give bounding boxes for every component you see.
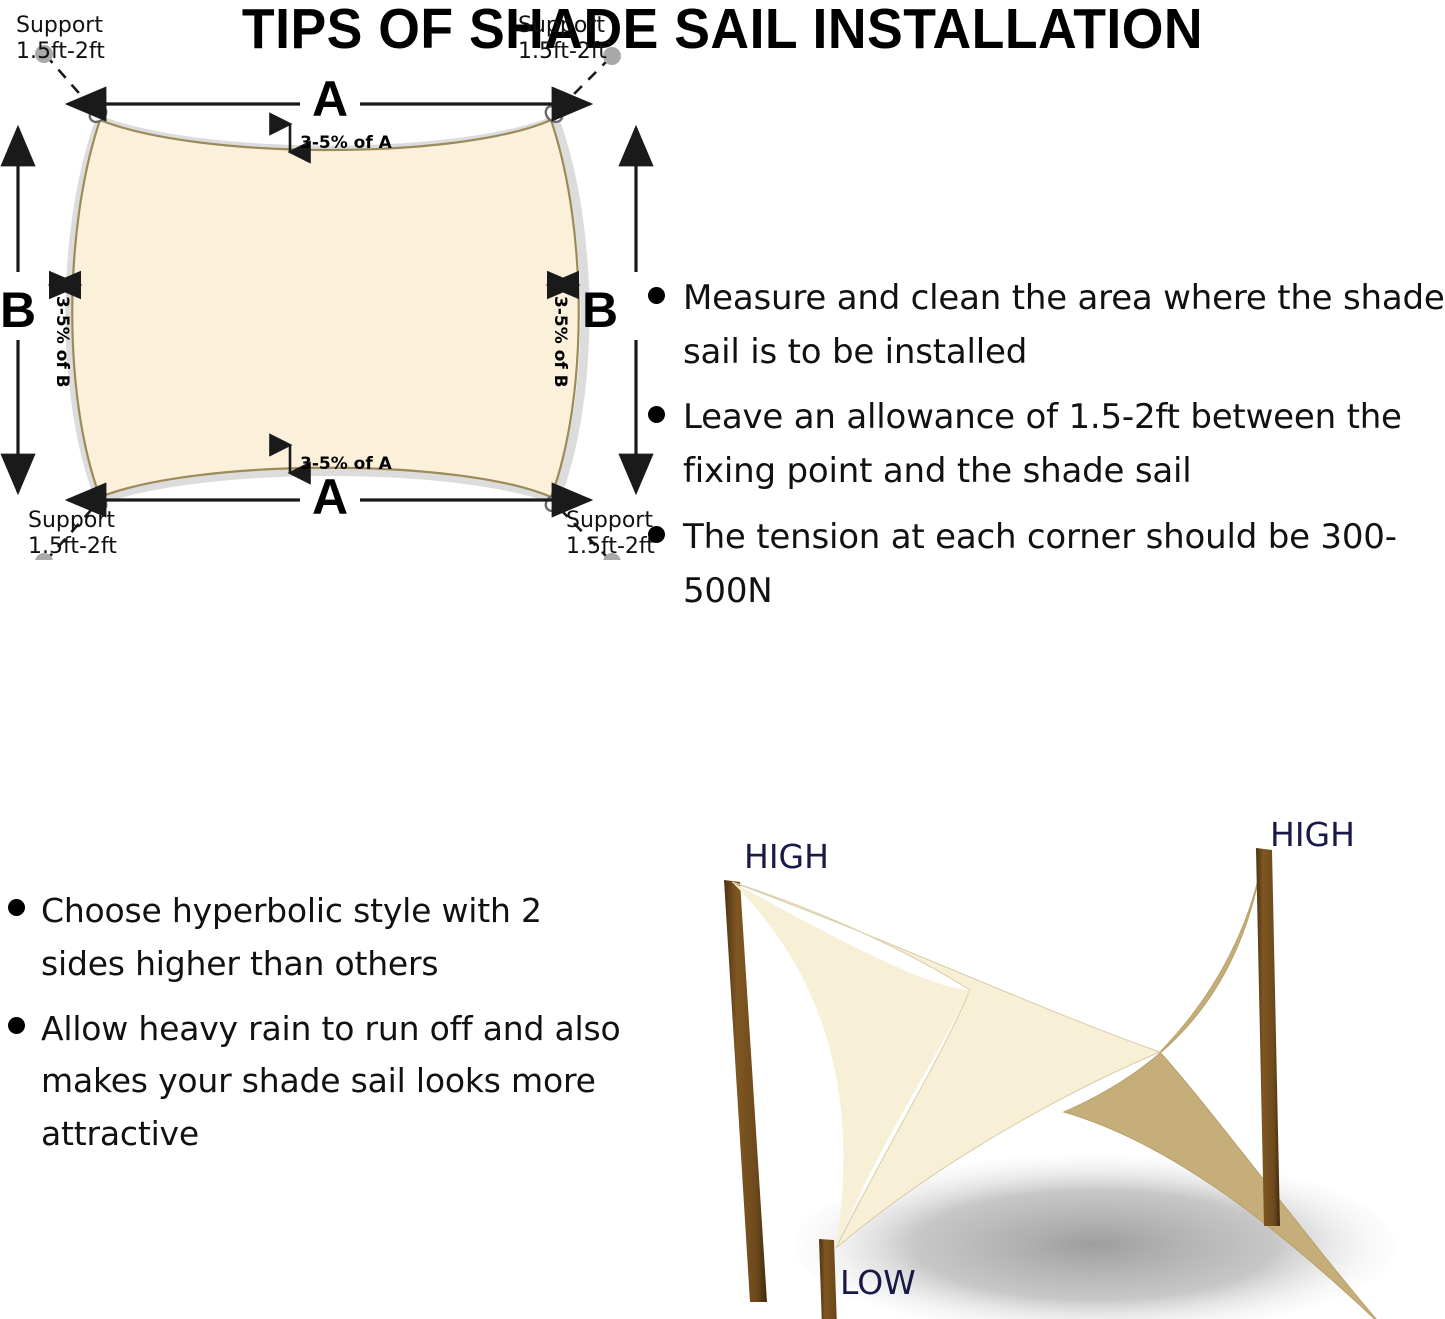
dimension-label-top-a: A <box>312 71 348 127</box>
support-label-bottom-left-line2: 1.5ft-2ft <box>28 534 117 559</box>
dimension-label-left-b: B <box>0 282 36 338</box>
tip-text: Measure and clean the area where the sha… <box>683 272 1445 379</box>
bullet-icon <box>648 406 665 423</box>
tip-text: The tension at each corner should be 300… <box>683 511 1445 618</box>
list-item: Choose hyperbolic style with 2 sides hig… <box>8 885 628 991</box>
support-label-top-left-line2: 1.5ft-2ft <box>16 39 105 64</box>
style-tip-text: Allow heavy rain to run off and also mak… <box>41 1003 628 1161</box>
dimension-label-bottom-a: A <box>312 469 348 525</box>
bullet-icon <box>648 526 665 543</box>
hyperbolic-sail-illustration: HIGH HIGH LOW LOW <box>640 790 1445 1319</box>
curve-label-top: 3-5% of A <box>300 133 393 153</box>
support-label-top-left-line1: Support <box>16 13 103 38</box>
shade-sail-body <box>72 120 579 497</box>
support-label-top-right-line2: 1.5ft-2ft <box>518 39 607 64</box>
support-label-bottom-right-line2: 1.5ft-2ft <box>566 534 655 559</box>
style-tip-text: Choose hyperbolic style with 2 sides hig… <box>41 885 628 991</box>
curve-label-right: 3-5% of B <box>550 296 570 388</box>
curve-label-left: 3-5% of B <box>52 296 72 388</box>
bullet-icon <box>648 287 665 304</box>
list-item: Allow heavy rain to run off and also mak… <box>8 1003 628 1161</box>
support-label-bottom-left-line1: Support <box>28 508 115 533</box>
list-item: Measure and clean the area where the sha… <box>648 272 1445 379</box>
post-high-right <box>1256 848 1280 1226</box>
label-high-left: HIGH <box>744 837 829 876</box>
bullet-icon <box>8 1017 25 1034</box>
label-low-left: LOW <box>840 1263 916 1302</box>
list-item: Leave an allowance of 1.5-2ft between th… <box>648 391 1445 498</box>
installation-tips-list: Measure and clean the area where the sha… <box>648 272 1445 630</box>
bullet-icon <box>8 899 25 916</box>
label-high-right: HIGH <box>1270 815 1355 854</box>
support-label-top-right-line1: Support <box>518 13 605 38</box>
post-high-left <box>724 880 767 1302</box>
list-item: The tension at each corner should be 300… <box>648 511 1445 618</box>
tip-text: Leave an allowance of 1.5-2ft between th… <box>683 391 1445 498</box>
curve-label-bottom: 3-5% of A <box>300 454 393 474</box>
style-tips-list: Choose hyperbolic style with 2 sides hig… <box>8 885 628 1173</box>
rectangular-sail-diagram: A 3-5% of A A 3-5% of A B 3-5% of B <box>0 0 660 560</box>
support-label-bottom-right-line1: Support <box>566 508 653 533</box>
dimension-label-right-b: B <box>582 282 618 338</box>
